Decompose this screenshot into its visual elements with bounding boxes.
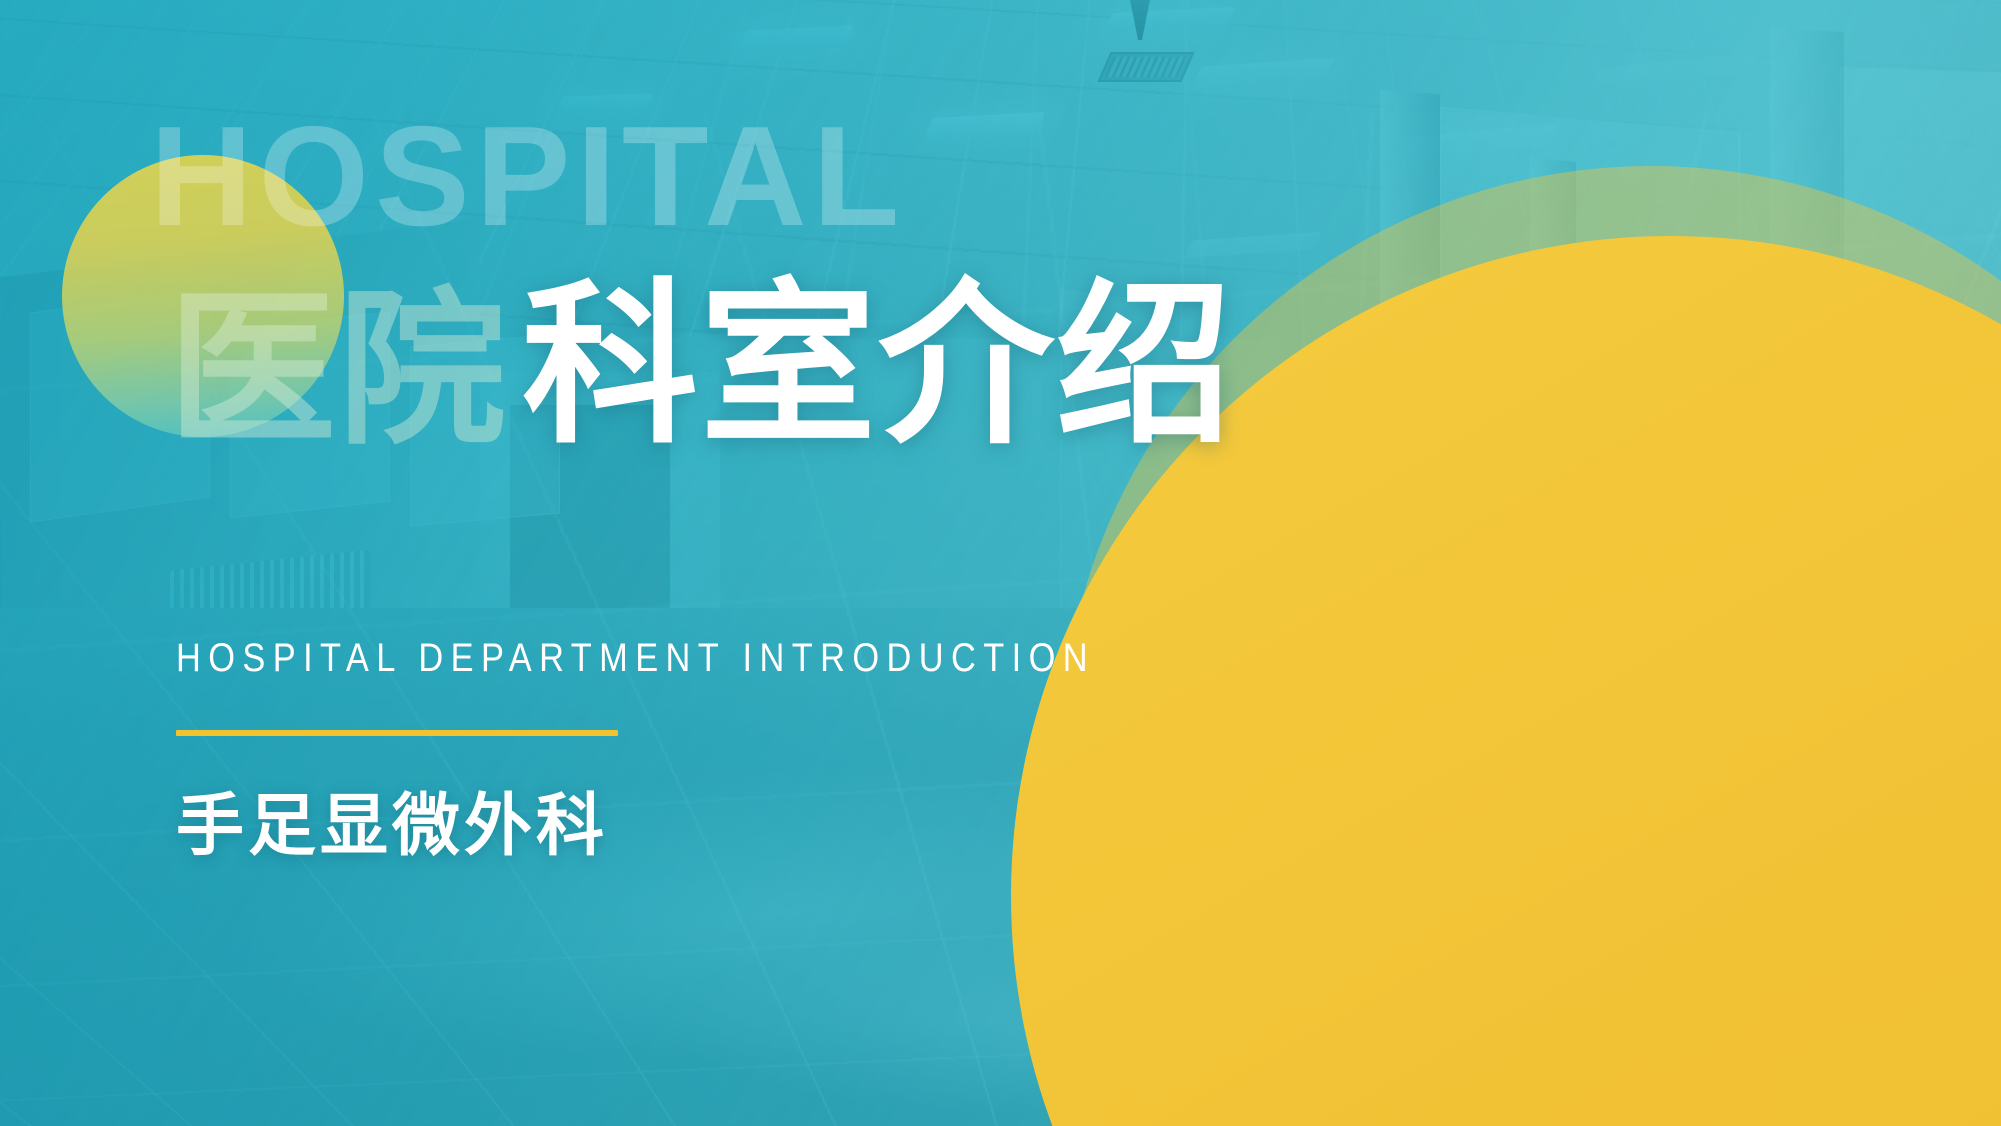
english-subtitle: HOSPITAL DEPARTMENT INTRODUCTION [176, 636, 1095, 681]
department-name: 手足显微外科 [176, 770, 608, 869]
main-title-row: 医院 科室介绍 [168, 278, 1234, 454]
page-title: 科室介绍 [522, 278, 1234, 454]
title-ghost-text: 医院 [168, 286, 508, 454]
text-content: HOSPITAL 医院 科室介绍 HOSPITAL DEPARTMENT INT… [0, 0, 2001, 1126]
watermark-text: HOSPITAL [150, 106, 905, 248]
hospital-department-poster: HOSPITAL 医院 科室介绍 HOSPITAL DEPARTMENT INT… [0, 0, 2001, 1126]
yellow-divider-line [176, 730, 618, 736]
